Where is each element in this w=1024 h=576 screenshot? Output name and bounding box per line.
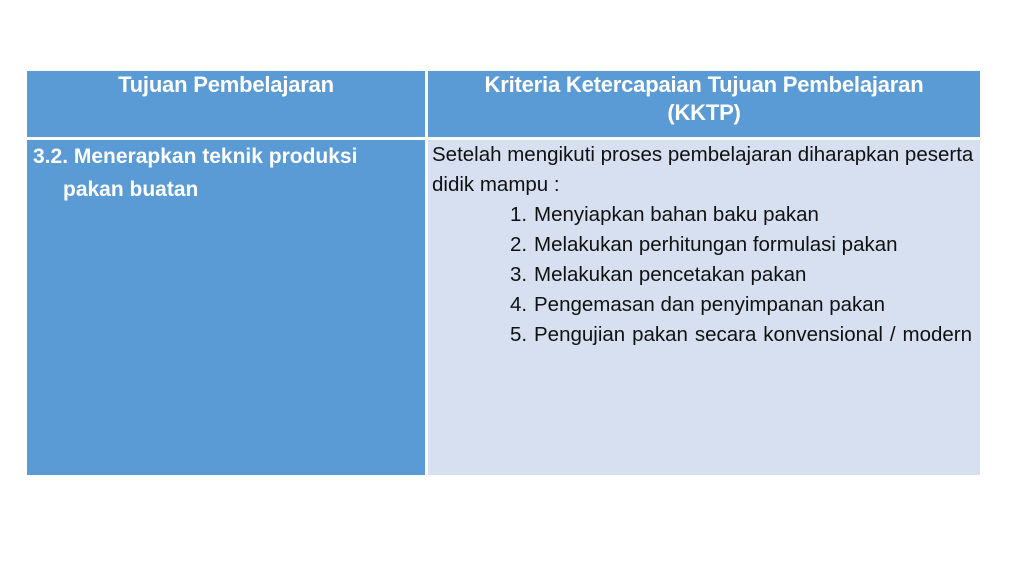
list-item-label: Melakukan pencetakan pakan bbox=[534, 260, 980, 290]
table-row: 3.2. Menerapkan teknik produksi pakan bu… bbox=[27, 140, 980, 475]
criteria-list: 1. Menyiapkan bahan baku pakan 2. Melaku… bbox=[428, 200, 980, 380]
list-item: 3. Melakukan pencetakan pakan bbox=[428, 260, 980, 290]
list-item-number: 3. bbox=[510, 260, 534, 290]
list-item-label: Melakukan perhitungan formulasi pakan bbox=[534, 230, 980, 260]
header-cell-tujuan-pembelajaran: Tujuan Pembelajaran bbox=[27, 71, 425, 137]
list-item: 2. Melakukan perhitungan formulasi pakan bbox=[428, 230, 980, 260]
list-item-number: 2. bbox=[510, 230, 534, 260]
slide-canvas: Tujuan Pembelajaran Kriteria Ketercapaia… bbox=[0, 0, 1024, 576]
criteria-intro-text: Setelah mengikuti proses pembelajaran di… bbox=[428, 140, 980, 200]
header-cell-kktp: Kriteria Ketercapaian Tujuan Pembelajara… bbox=[428, 71, 980, 137]
list-item: 4. Pengemasan dan penyimpanan pakan bbox=[428, 290, 980, 320]
header-label-kktp-line2: (KKTP) bbox=[428, 99, 980, 127]
list-item-label: Pengemasan dan penyimpanan pakan bbox=[534, 290, 980, 320]
table-header-row: Tujuan Pembelajaran Kriteria Ketercapaia… bbox=[27, 71, 980, 137]
list-item: 1. Menyiapkan bahan baku pakan bbox=[428, 200, 980, 230]
kktp-table: Tujuan Pembelajaran Kriteria Ketercapaia… bbox=[24, 68, 983, 478]
list-item-number: 1. bbox=[510, 200, 534, 230]
learning-objective-text: 3.2. Menerapkan teknik produksi pakan bu… bbox=[27, 140, 425, 206]
list-item: 5. Pengujian pakan secara konvensional /… bbox=[428, 320, 980, 380]
list-item-label: Pengujian pakan secara konvensional / mo… bbox=[534, 320, 980, 380]
list-item-number: 5. bbox=[510, 320, 534, 350]
list-item-number: 4. bbox=[510, 290, 534, 320]
list-item-label: Menyiapkan bahan baku pakan bbox=[534, 200, 980, 230]
header-label-kktp-line1: Kriteria Ketercapaian Tujuan Pembelajara… bbox=[428, 71, 980, 99]
cell-learning-objective: 3.2. Menerapkan teknik produksi pakan bu… bbox=[27, 140, 425, 475]
header-label-tujuan-pembelajaran: Tujuan Pembelajaran bbox=[27, 71, 425, 99]
cell-criteria: Setelah mengikuti proses pembelajaran di… bbox=[428, 140, 980, 475]
